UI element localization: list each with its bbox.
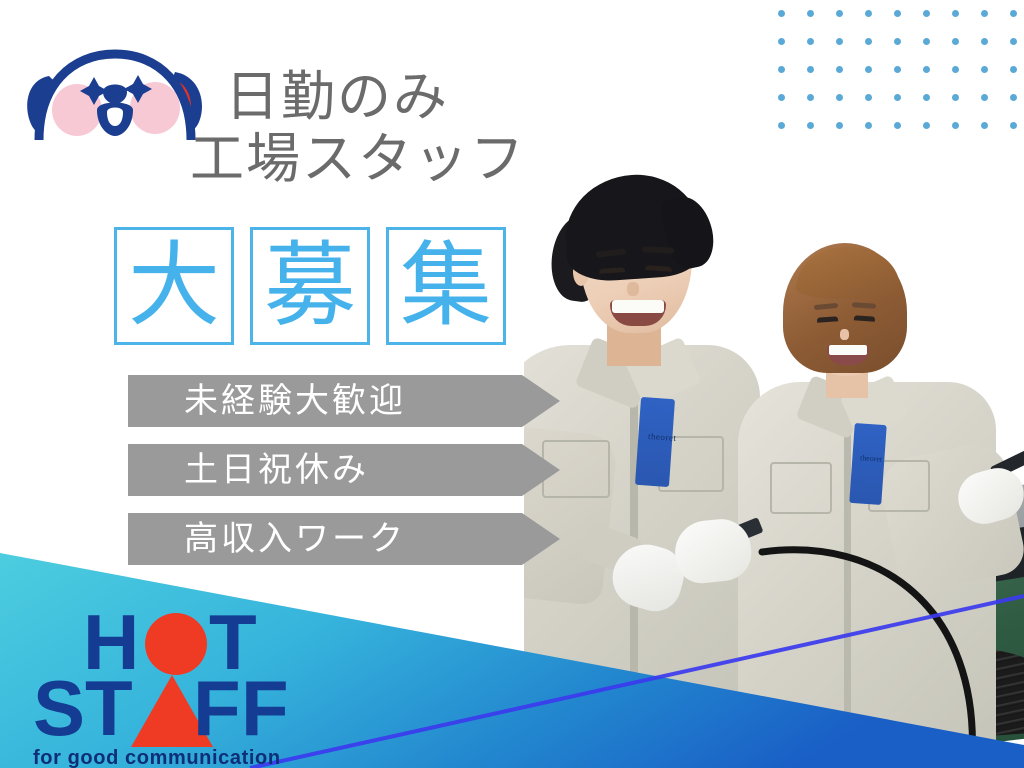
logo-letter-f-2: F [241,669,289,747]
male-teeth [612,300,664,313]
decor-dot [981,122,988,129]
decor-dot [778,38,785,45]
decor-dot [894,38,901,45]
decor-dot [865,94,872,101]
decor-dot [807,10,814,17]
decor-dot [981,94,988,101]
feature-tag-no-experience: 未経験大歓迎 [128,375,560,427]
decor-dot [981,38,988,45]
decor-dot [778,66,785,73]
recruitment-callout: 大 募 集 [114,227,506,345]
decor-dot [894,94,901,101]
page-title: 日勤のみ 工場スタッフ [190,66,590,190]
decor-dot [1010,94,1017,101]
logo-letter-f-1: F [193,669,241,747]
decor-dot [923,38,930,45]
feature-tag-label: 土日祝休み [128,453,369,487]
decor-dot [807,94,814,101]
dot-grid-decoration [778,10,1018,150]
decor-dot [923,10,930,17]
decor-dot [865,66,872,73]
feature-tag-label: 高収入ワーク [128,522,406,556]
cable-wire [650,440,1024,760]
hot-staff-logo: H T S T F F for good communication [33,603,333,763]
decor-dot [778,10,785,17]
decor-dot [952,66,959,73]
callout-char-2: 募 [250,227,370,345]
male-nose [627,282,639,296]
logo-letter-t-bottom: T [85,669,133,747]
decor-dot [836,94,843,101]
decor-dot [865,38,872,45]
decor-dot [894,10,901,17]
decor-dot [952,122,959,129]
decor-dot [923,66,930,73]
decor-dot [836,38,843,45]
headline-line-1: 日勤のみ [190,66,590,128]
decor-dot [952,94,959,101]
decor-dot [1010,38,1017,45]
decor-dot [1010,122,1017,129]
callout-char-3: 集 [386,227,506,345]
decor-dot [1010,10,1017,17]
decor-dot [952,38,959,45]
decor-dot [952,10,959,17]
decor-dot [836,66,843,73]
decor-dot [836,10,843,17]
decor-dot [894,122,901,129]
dog-mascot-icon [15,28,215,140]
decor-dot [836,122,843,129]
feature-tag-label: 未経験大歓迎 [128,384,406,418]
decor-dot [778,122,785,129]
decor-dot [894,66,901,73]
decor-dot [807,122,814,129]
female-nose [840,329,849,340]
feature-tag-high-income: 高収入ワーク [128,513,560,565]
decor-dot [923,94,930,101]
decor-dot [807,38,814,45]
female-teeth [829,345,867,355]
decor-dot [778,94,785,101]
decor-dot [981,66,988,73]
decor-dot [981,10,988,17]
decor-dot [865,10,872,17]
feature-tag-weekends-off: 土日祝休み [128,444,560,496]
logo-tagline: for good communication [33,747,281,768]
callout-char-1: 大 [114,227,234,345]
decor-dot [1010,66,1017,73]
decor-dot [865,122,872,129]
decor-dot [923,122,930,129]
poster-root: theoret theoret [0,0,1024,768]
decor-dot [807,66,814,73]
logo-letter-s: S [33,669,85,747]
headline-line-2: 工場スタッフ [190,128,590,190]
